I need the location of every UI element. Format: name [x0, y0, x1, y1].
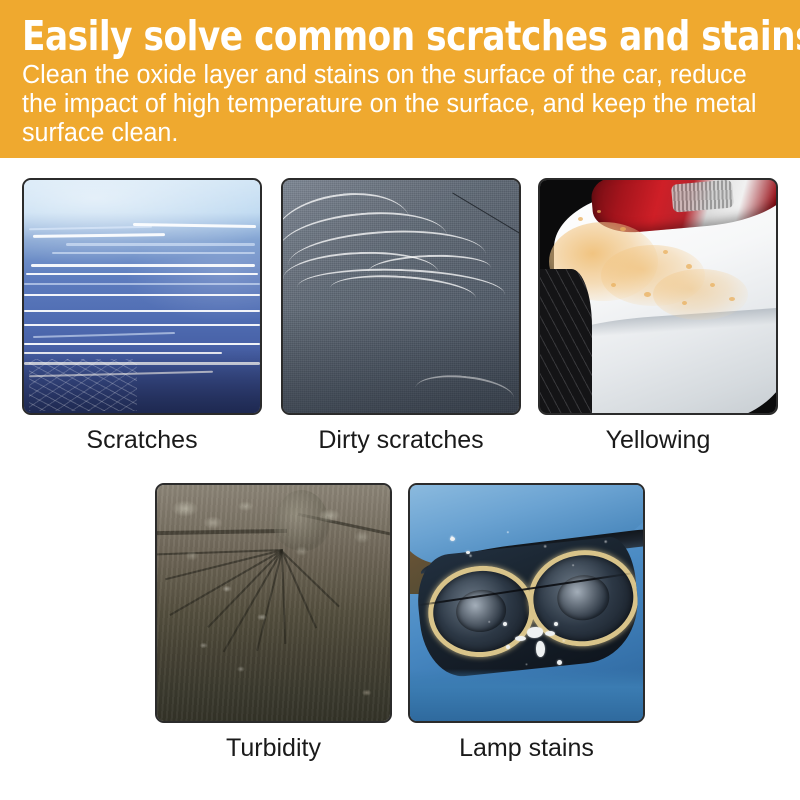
- white-car-bumper-with-yellow-stains-photo: [540, 180, 776, 413]
- blue-car-panel-with-horizontal-scratches-photo: [24, 180, 260, 413]
- muddy-wet-car-panel-photo: [157, 485, 390, 721]
- gallery-caption-dirty-scratches: Dirty scratches: [281, 425, 521, 455]
- gallery-caption-scratches: Scratches: [22, 425, 262, 455]
- page-title: Easily solve common scratches and stains: [22, 14, 729, 58]
- gallery-caption-lamp-stains: Lamp stains: [408, 733, 645, 763]
- gallery-card-dirty-scratches: [281, 178, 521, 415]
- product-infographic: Easily solve common scratches and stains…: [0, 0, 800, 800]
- gallery-card-scratches: [22, 178, 262, 415]
- gallery-caption-yellowing: Yellowing: [538, 425, 778, 455]
- blue-car-headlight-with-water-stains-photo: [410, 485, 643, 721]
- page-subtitle: Clean the oxide layer and stains on the …: [22, 61, 771, 148]
- dark-grey-metallic-panel-with-swirl-scratches-photo: [283, 180, 519, 413]
- header-banner: Easily solve common scratches and stains…: [0, 0, 800, 158]
- gallery-card-lamp-stains: [408, 483, 645, 723]
- gallery-caption-turbidity: Turbidity: [155, 733, 392, 763]
- gallery-card-turbidity: [155, 483, 392, 723]
- gallery-card-yellowing: [538, 178, 778, 415]
